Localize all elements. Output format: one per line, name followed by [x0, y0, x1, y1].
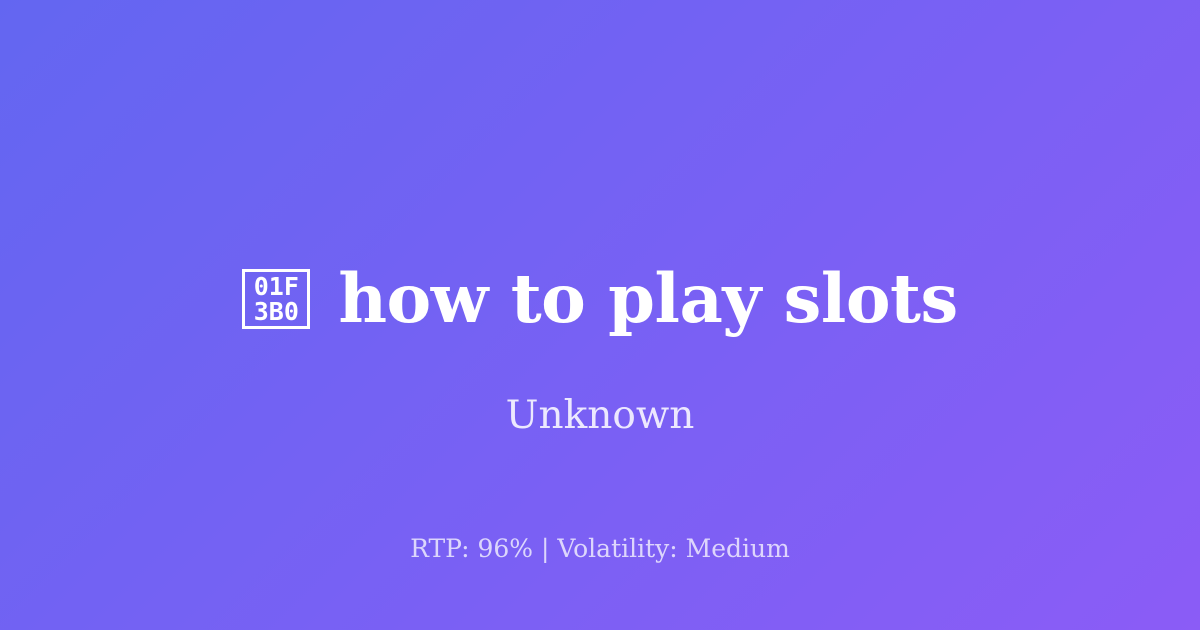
- subtitle: Unknown: [506, 393, 695, 440]
- tofu-codepoint-bottom: 3B0: [254, 299, 299, 324]
- footer-meta: RTP: 96% | Volatility: Medium: [0, 534, 1200, 564]
- footer-meta-text: RTP: 96% | Volatility: Medium: [410, 534, 790, 563]
- title-row: 01F 3B0 how to play slots: [0, 262, 1200, 336]
- page-title: how to play slots: [338, 262, 957, 336]
- open-graph-card: 01F 3B0 how to play slots Unknown RTP: 9…: [0, 0, 1200, 630]
- slot-machine-emoji-icon: 01F 3B0: [242, 269, 310, 329]
- tofu-codepoint-top: 01F: [254, 274, 299, 299]
